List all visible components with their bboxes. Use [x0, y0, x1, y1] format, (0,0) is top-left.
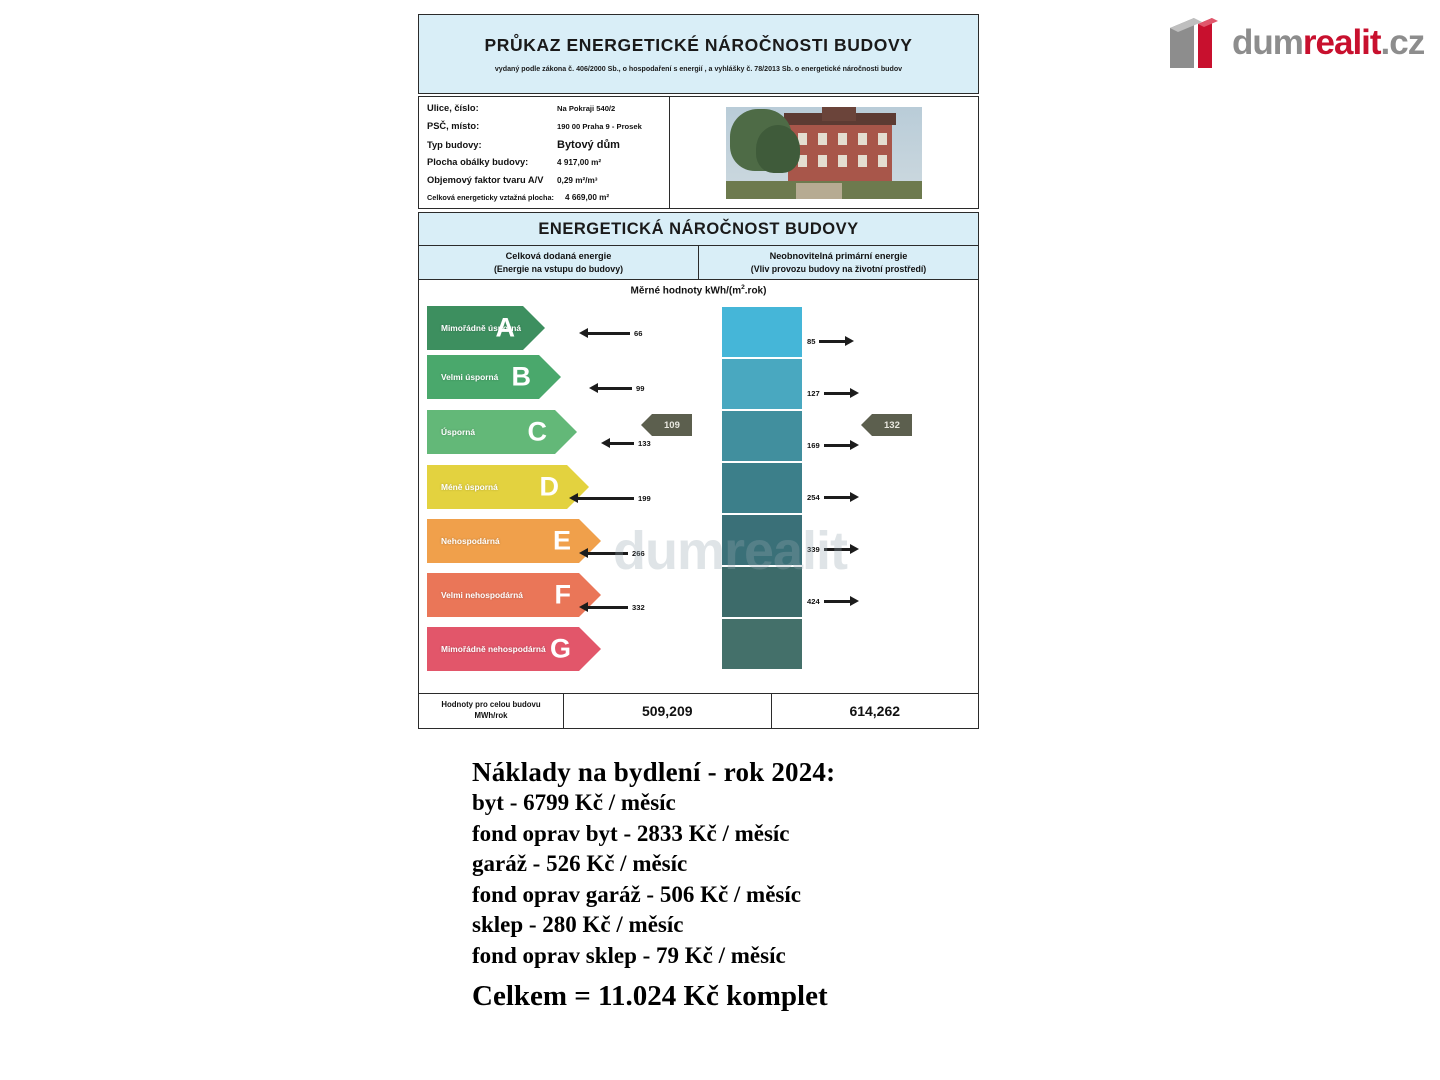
energy-class-F: Velmi nehospodárná F: [427, 573, 601, 617]
info-value: Bytový dům: [557, 139, 620, 151]
info-row-reference-area: Celková energeticky vztažná plocha: 4 66…: [427, 193, 669, 211]
column-heading: Neobnovitelná primární energie: [770, 251, 908, 261]
cost-line-repair-fund-garage: fond oprav garáž - 506 Kč / měsíc: [472, 880, 1172, 911]
right-threshold-127: 127: [807, 388, 859, 398]
right-threshold-424: 424: [807, 596, 859, 606]
certificate-title: PRŮKAZ ENERGETICKÉ NÁROČNOSTI BUDOVY: [484, 35, 912, 56]
energy-column-headers: Celková dodaná energie (Energie na vstup…: [418, 246, 979, 280]
energy-class-label: Mimořádně nehospodárná: [441, 644, 546, 655]
costs-total: Celkem = 11.024 Kč komplet: [472, 977, 1172, 1016]
total-delivered-energy: 509,209: [564, 694, 771, 728]
energy-bar: [721, 358, 803, 410]
logo-wordmark: dumrealit.cz: [1232, 25, 1424, 60]
energy-bar: [721, 618, 803, 670]
right-threshold-169: 169: [807, 440, 859, 450]
info-label: PSČ, místo:: [427, 121, 557, 131]
column-header-delivered-energy: Celková dodaná energie (Energie na vstup…: [419, 246, 699, 279]
energy-class-label: Méně úsporná: [441, 482, 498, 493]
energy-class-E: Nehospodárná E: [427, 519, 601, 563]
info-value: 4 669,00 m²: [565, 193, 609, 202]
result-badge-delivered-energy: 109: [641, 414, 692, 436]
costs-heading: Náklady na bydlení - rok 2024:: [472, 757, 1172, 788]
energy-scale-chart: Mimořádně úsporná A Velmi úsporná B Úspo…: [418, 300, 979, 693]
info-label: Ulice, číslo:: [427, 103, 557, 113]
column-subheading: (Vliv provozu budovy na životní prostřed…: [751, 264, 926, 274]
energy-bar: [721, 462, 803, 514]
cost-line-cellar: sklep - 280 Kč / měsíc: [472, 910, 1172, 941]
building-photo: [726, 107, 922, 199]
info-row-postcode: PSČ, místo: 190 00 Praha 9 - Prosek: [427, 121, 669, 139]
energy-section-title-text: ENERGETICKÁ NÁROČNOST BUDOVY: [538, 220, 858, 239]
energy-certificate: PRŮKAZ ENERGETICKÉ NÁROČNOSTI BUDOVY vyd…: [418, 14, 979, 754]
info-value: 4 917,00 m²: [557, 158, 601, 167]
totals-label: Hodnoty pro celou budovu MWh/rok: [419, 694, 564, 728]
logo-text-cz: .cz: [1381, 23, 1425, 62]
energy-class-C: Úsporná C: [427, 410, 577, 454]
primary-energy-bars: [721, 306, 803, 670]
energy-class-D: Méně úsporná D: [427, 465, 589, 509]
cost-line-apartment: byt - 6799 Kč / měsíc: [472, 788, 1172, 819]
logo-text-dum: dum: [1232, 23, 1303, 62]
result-badge-primary-energy: 132: [861, 414, 912, 436]
left-threshold-99: 99: [589, 383, 644, 393]
info-row-envelope-area: Plocha obálky budovy: 4 917,00 m²: [427, 157, 669, 175]
info-value: 0,29 m²/m³: [557, 176, 598, 185]
dumrealit-logo: dumrealit.cz: [1168, 14, 1424, 70]
energy-class-label: Nehospodárná: [441, 536, 500, 547]
energy-class-B: Velmi úsporná B: [427, 355, 561, 399]
certificate-header: PRŮKAZ ENERGETICKÉ NÁROČNOSTI BUDOVY vyd…: [418, 14, 979, 94]
energy-class-letter: G: [550, 634, 571, 665]
info-row-street: Ulice, číslo: Na Pokraji 540/2: [427, 103, 669, 121]
energy-section-title: ENERGETICKÁ NÁROČNOST BUDOVY: [418, 212, 979, 246]
cost-line-repair-fund-cellar: fond oprav sklep - 79 Kč / měsíc: [472, 941, 1172, 972]
left-threshold-266: 266: [579, 548, 645, 558]
building-totals-row: Hodnoty pro celou budovu MWh/rok 509,209…: [418, 693, 979, 729]
right-threshold-339: 339: [807, 544, 859, 554]
column-subheading: (Energie na vstupu do budovy): [494, 264, 623, 274]
energy-bar: [721, 410, 803, 462]
energy-class-letter: E: [553, 526, 571, 557]
energy-class-letter: A: [496, 313, 516, 344]
totals-label-line2: MWh/rok: [475, 711, 508, 722]
energy-class-letter: F: [555, 580, 572, 611]
house-logo-icon: [1168, 14, 1222, 70]
column-header-primary-energy: Neobnovitelná primární energie (Vliv pro…: [699, 246, 978, 279]
energy-bar: [721, 514, 803, 566]
logo-text-realit: realit: [1303, 23, 1381, 62]
info-row-shape-factor: Objemový faktor tvaru A/V 0,29 m²/m³: [427, 175, 669, 193]
info-row-building-type: Typ budovy: Bytový dům: [427, 139, 669, 157]
building-photo-cell: [670, 97, 978, 208]
info-label: Plocha obálky budovy:: [427, 157, 557, 167]
energy-class-letter: C: [528, 417, 548, 448]
building-info-rows: Ulice, číslo: Na Pokraji 540/2 PSČ, míst…: [419, 97, 670, 208]
info-value: 190 00 Praha 9 - Prosek: [557, 122, 642, 131]
energy-class-A: Mimořádně úsporná A: [427, 306, 545, 350]
cost-line-repair-fund-apartment: fond oprav byt - 2833 Kč / měsíc: [472, 819, 1172, 850]
units-label: Měrné hodnoty kWh/(m2.rok): [631, 284, 767, 296]
certificate-subtitle: vydaný podle zákona č. 406/2000 Sb., o h…: [495, 65, 902, 73]
left-threshold-332: 332: [579, 602, 645, 612]
info-value: Na Pokraji 540/2: [557, 104, 615, 113]
left-threshold-133: 133: [601, 438, 651, 448]
building-info-table: Ulice, číslo: Na Pokraji 540/2 PSČ, míst…: [418, 96, 979, 209]
total-primary-energy: 614,262: [771, 694, 979, 728]
info-label: Objemový faktor tvaru A/V: [427, 175, 557, 185]
units-row: Měrné hodnoty kWh/(m2.rok): [418, 280, 979, 300]
right-threshold-85: 85: [807, 336, 854, 346]
left-threshold-199: 199: [569, 493, 651, 503]
housing-costs-block: Náklady na bydlení - rok 2024: byt - 679…: [472, 757, 1172, 1016]
totals-label-line1: Hodnoty pro celou budovu: [441, 700, 540, 711]
left-threshold-66: 66: [579, 328, 642, 338]
energy-class-label: Velmi úsporná: [441, 372, 498, 383]
energy-class-G: Mimořádně nehospodárná G: [427, 627, 601, 671]
energy-class-letter: D: [540, 472, 560, 503]
energy-bar: [721, 566, 803, 618]
result-value: 132: [884, 420, 900, 431]
info-label: Celková energeticky vztažná plocha:: [427, 193, 565, 202]
result-value: 109: [664, 420, 680, 431]
energy-class-letter: B: [512, 362, 532, 393]
column-heading: Celková dodaná energie: [506, 251, 612, 261]
info-label: Typ budovy:: [427, 140, 557, 150]
energy-class-label: Úsporná: [441, 427, 475, 438]
right-threshold-254: 254: [807, 492, 859, 502]
energy-class-label: Velmi nehospodárná: [441, 590, 523, 601]
energy-bar: [721, 306, 803, 358]
cost-line-garage: garáž - 526 Kč / měsíc: [472, 849, 1172, 880]
